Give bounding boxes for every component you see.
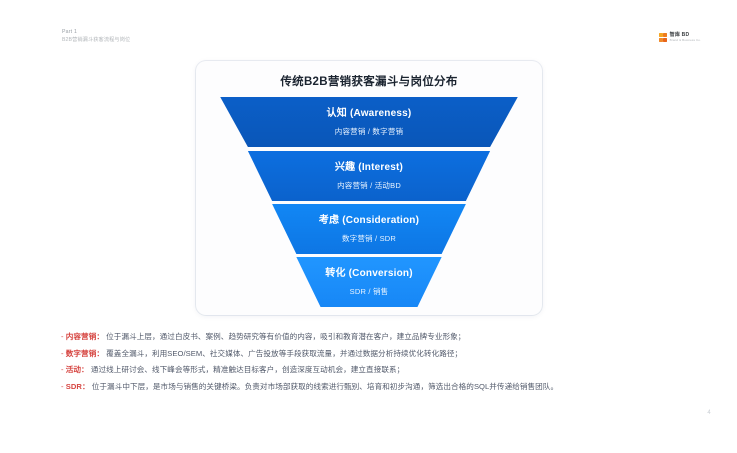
funnel-stage-text: 转化 (Conversion) SDR / 销售 — [325, 269, 412, 296]
logo-text-block: 智库 BD Brand & Business Co. — [670, 33, 701, 42]
page-number: 4 — [707, 410, 711, 416]
note-item: - 内容营销： 位于漏斗上层，通过白皮书、案例、趋势研究等有价值的内容，吸引和教… — [61, 329, 701, 346]
funnel-stage-title: 转化 (Conversion) — [325, 269, 412, 279]
header-part-label: Part 1 — [62, 29, 130, 36]
funnel-stage-consideration[interactable]: 考虑 (Consideration) 数字营销 / SDR — [196, 204, 542, 254]
logo-squares-icon — [659, 33, 668, 42]
note-dash: - — [61, 365, 64, 374]
notes-list: - 内容营销： 位于漏斗上层，通过白皮书、案例、趋势研究等有价值的内容，吸引和教… — [61, 329, 701, 395]
funnel-stage-title-cn: 认知 — [327, 108, 347, 119]
funnel-title: 传统B2B营销获客漏斗与岗位分布 — [196, 73, 542, 89]
funnel-stage-title-en: (Consideration) — [342, 215, 419, 226]
note-key: 活动： — [66, 365, 89, 374]
funnel-stage-text: 认知 (Awareness) 内容营销 / 数字营销 — [327, 109, 412, 136]
note-body: 位于漏斗中下层，是市场与销售的关键桥梁。负责对市场部获取的线索进行甄别、培育和初… — [92, 382, 558, 391]
funnel-stage-interest[interactable]: 兴趣 (Interest) 内容营销 / 活动BD — [196, 151, 542, 201]
funnel-stage-roles: 内容营销 / 活动BD — [335, 182, 403, 190]
funnel-stage-text: 考虑 (Consideration) 数字营销 / SDR — [319, 216, 419, 243]
brand-logo: 智库 BD Brand & Business Co. — [659, 33, 701, 42]
funnel-stage-title-en: (Awareness) — [350, 108, 412, 119]
note-body: 覆盖全漏斗，利用SEO/SEM、社交媒体、广告投放等手段获取流量，并通过数据分析… — [106, 349, 462, 358]
note-dash: - — [61, 382, 64, 391]
funnel-stage-awareness[interactable]: 认知 (Awareness) 内容营销 / 数字营销 — [196, 97, 542, 147]
note-item: - SDR： 位于漏斗中下层，是市场与销售的关键桥梁。负责对市场部获取的线索进行… — [61, 379, 701, 396]
note-item: - 数字营销： 覆盖全漏斗，利用SEO/SEM、社交媒体、广告投放等手段获取流量… — [61, 346, 701, 363]
funnel-card: 传统B2B营销获客漏斗与岗位分布 认知 (Awareness) 内容营销 / 数… — [196, 61, 542, 315]
note-key: 数字营销： — [66, 349, 104, 358]
header-subtitle: B2B营销漏斗获客流程与岗位 — [62, 37, 130, 44]
funnel-stage-title-cn: 转化 — [325, 268, 345, 279]
logo-tagline: Brand & Business Co. — [670, 39, 701, 42]
funnel-stage-text: 兴趣 (Interest) 内容营销 / 活动BD — [335, 163, 403, 190]
note-dash: - — [61, 349, 64, 358]
note-body: 通过线上研讨会、线下峰会等形式，精准触达目标客户，创造深度互动机会，建立直接联系… — [91, 365, 404, 374]
funnel-stage-roles: 内容营销 / 数字营销 — [327, 128, 412, 136]
note-dash: - — [61, 332, 64, 341]
note-body: 位于漏斗上层，通过白皮书、案例、趋势研究等有价值的内容，吸引和教育潜在客户，建立… — [106, 332, 465, 341]
note-key: SDR： — [66, 382, 90, 391]
funnel-stage-title-en: (Interest) — [358, 162, 403, 173]
funnel-stage-conversion[interactable]: 转化 (Conversion) SDR / 销售 — [196, 257, 542, 307]
funnel-stage-roles: SDR / 销售 — [325, 288, 412, 296]
funnel-stage-title-en: (Conversion) — [349, 268, 413, 279]
slide: Part 1 B2B营销漏斗获客流程与岗位 智库 BD Brand & Busi… — [0, 0, 737, 453]
slide-header: Part 1 B2B营销漏斗获客流程与岗位 — [62, 29, 130, 44]
funnel-stage-title: 兴趣 (Interest) — [335, 163, 403, 173]
funnel-chart: 认知 (Awareness) 内容营销 / 数字营销 兴趣 (Inte — [196, 97, 542, 309]
note-item: - 活动： 通过线上研讨会、线下峰会等形式，精准触达目标客户，创造深度互动机会，… — [61, 362, 701, 379]
funnel-stage-title-cn: 考虑 — [319, 215, 339, 226]
funnel-stage-title: 考虑 (Consideration) — [319, 216, 419, 226]
funnel-stage-roles: 数字营销 / SDR — [319, 235, 419, 243]
funnel-stage-title-cn: 兴趣 — [335, 162, 355, 173]
funnel-stage-title: 认知 (Awareness) — [327, 109, 412, 119]
note-key: 内容营销： — [66, 332, 104, 341]
